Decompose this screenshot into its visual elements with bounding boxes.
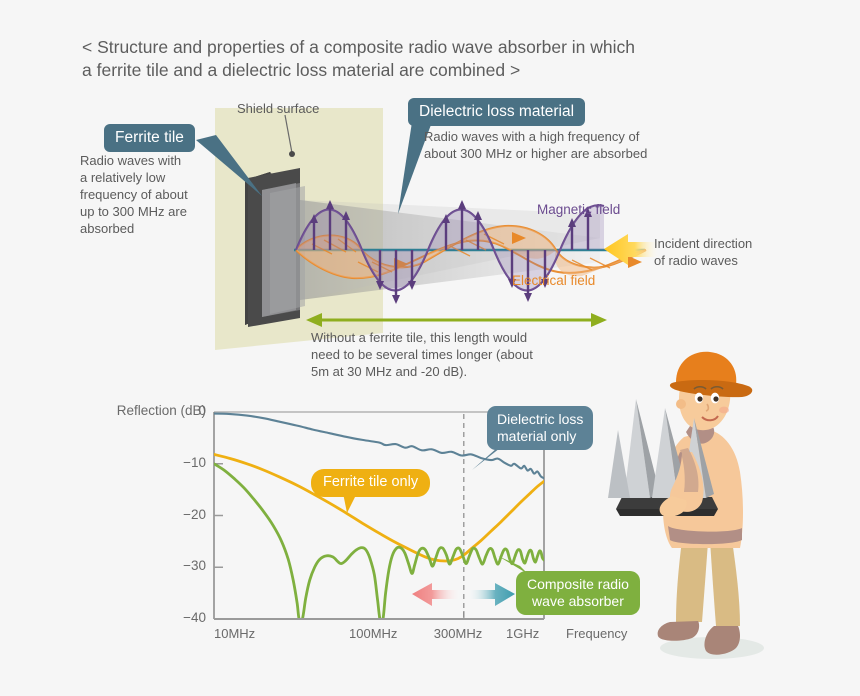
- person-leg-front: [710, 540, 740, 626]
- person-illustration: [0, 0, 860, 696]
- chart-y-tick-label: −30: [150, 558, 206, 573]
- chart-y-tick-label: 0: [150, 403, 206, 418]
- chart-x-tick-label: 10MHz: [214, 626, 255, 641]
- person-leg-back: [676, 540, 708, 622]
- person-pupil-right: [713, 396, 718, 401]
- chart-x-tick-label: 1GHz: [506, 626, 539, 641]
- person-cheek: [719, 407, 729, 414]
- person-ear: [676, 399, 686, 409]
- chart-x-tick-label: 300MHz: [434, 626, 482, 641]
- chart-y-tick-label: −10: [150, 455, 206, 470]
- chart-y-tick-label: −20: [150, 507, 206, 522]
- person-pupil-left: [697, 396, 702, 401]
- chart-x-tick-label: 100MHz: [349, 626, 397, 641]
- chart-y-tick-label: −40: [150, 610, 206, 625]
- person-hat-crown: [676, 352, 736, 384]
